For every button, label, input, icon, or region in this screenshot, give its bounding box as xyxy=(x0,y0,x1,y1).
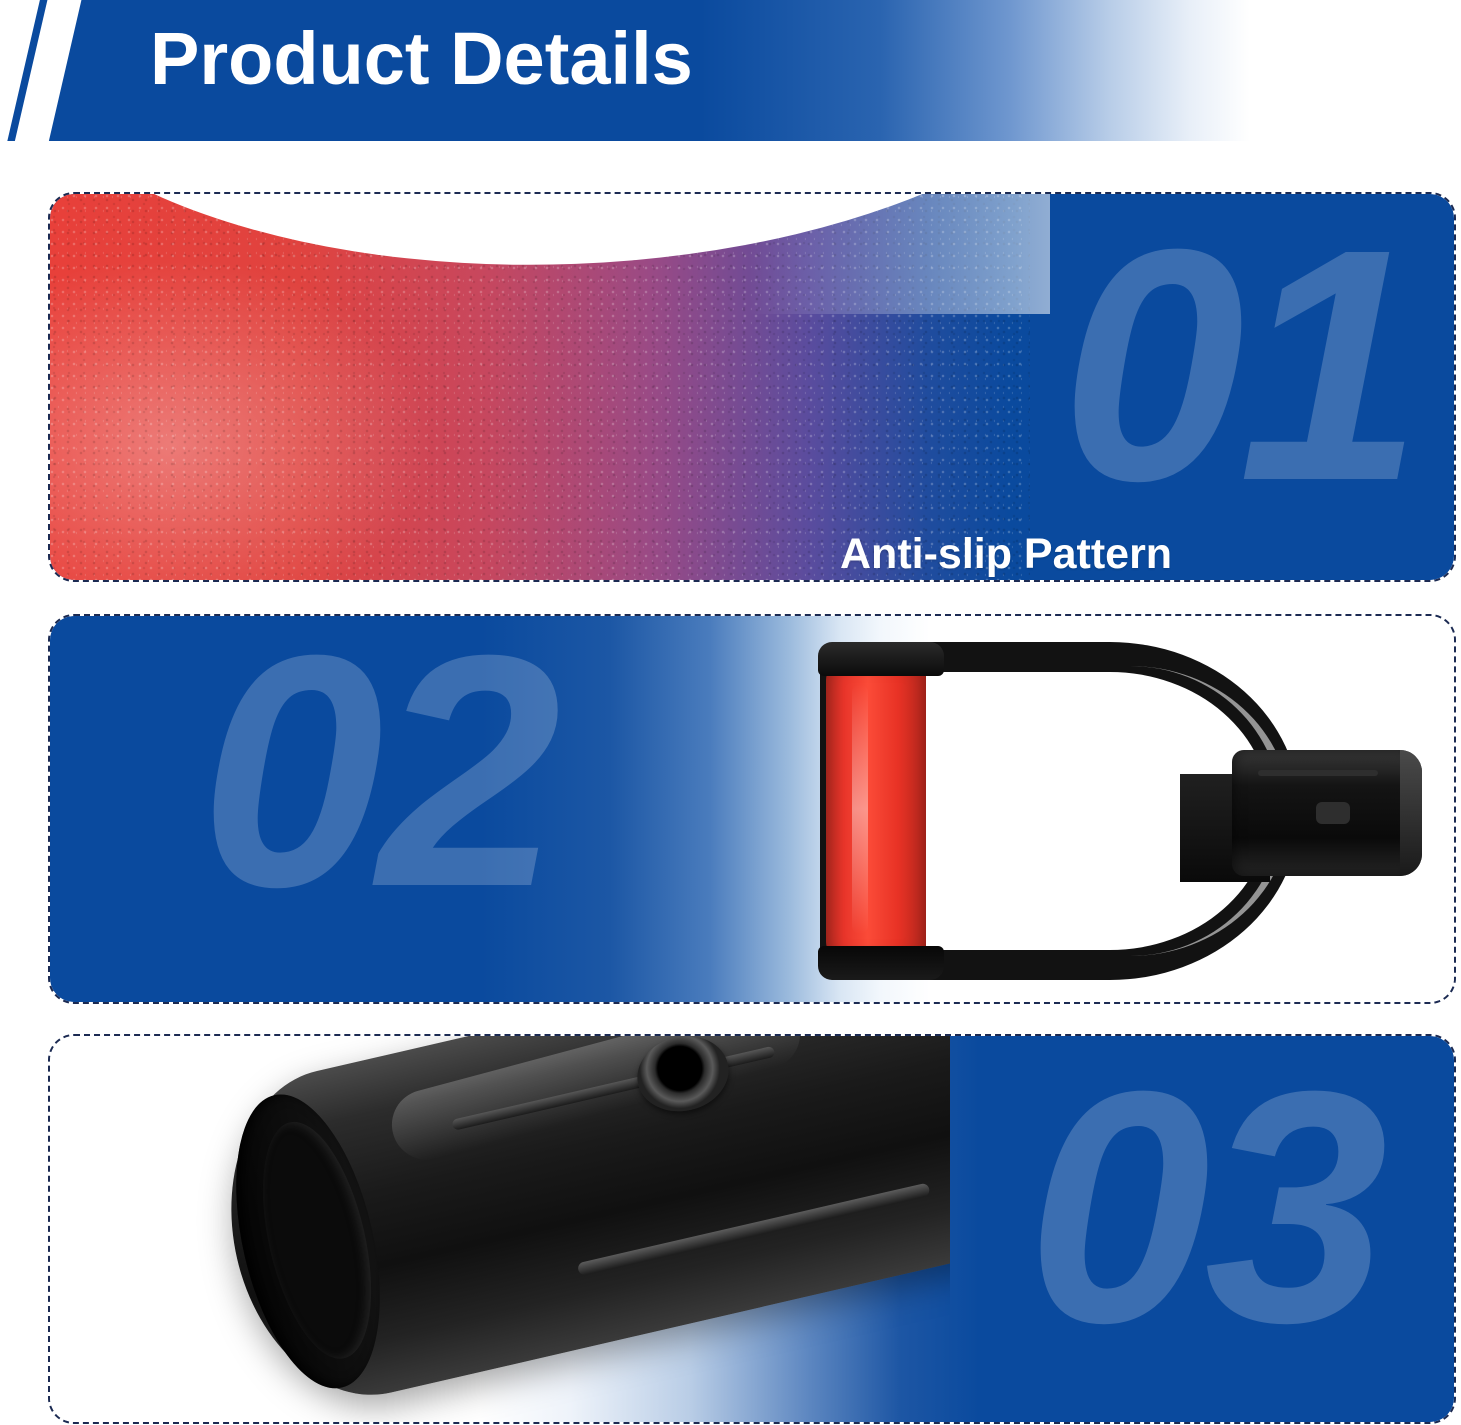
handle-socket-rim xyxy=(1400,750,1422,876)
feature-card-02-index: 02 xyxy=(200,616,555,936)
feature-card-01-text-block: Anti-slip Pattern The surface imitation … xyxy=(840,532,1440,582)
tube-mouth xyxy=(211,1081,405,1403)
feature-card-03-inner: 03 xyxy=(50,1036,1454,1422)
tube-rib-lower xyxy=(577,1182,931,1276)
grip-cap-bottom xyxy=(818,946,944,980)
d-shaped-handle-photo xyxy=(760,624,1450,998)
feature-card-01-index: 01 xyxy=(1061,200,1416,530)
handle-socket-nub xyxy=(1316,802,1350,824)
black-tube-screw-hole-photo xyxy=(50,1036,950,1422)
photo-edge-fade xyxy=(750,194,1050,314)
tube-body xyxy=(200,1036,950,1420)
red-anti-slip-grip-surface-photo xyxy=(50,194,1030,580)
handle-socket-groove xyxy=(1258,770,1378,776)
feature-card-01: 01 Anti-slip Pattern The surface imitati… xyxy=(48,192,1456,582)
tube-bore xyxy=(243,1112,391,1369)
feature-card-01-inner: 01 xyxy=(50,194,1454,580)
feature-card-01-title: Anti-slip Pattern xyxy=(840,532,1440,577)
feature-card-02: 02 D-shaped Design The handle is designe… xyxy=(48,614,1456,1004)
page-title: Product Details xyxy=(150,22,693,96)
grip-cap-top xyxy=(818,642,944,676)
feature-card-02-inner: 02 xyxy=(50,616,1454,1002)
page-header: Product Details xyxy=(0,0,1461,141)
feature-card-03-index: 03 xyxy=(1027,1042,1382,1372)
red-grip xyxy=(826,664,926,958)
feature-card-03: 03 Easy to Install The screw holes are e… xyxy=(48,1034,1456,1424)
red-grip-highlight xyxy=(852,684,868,934)
